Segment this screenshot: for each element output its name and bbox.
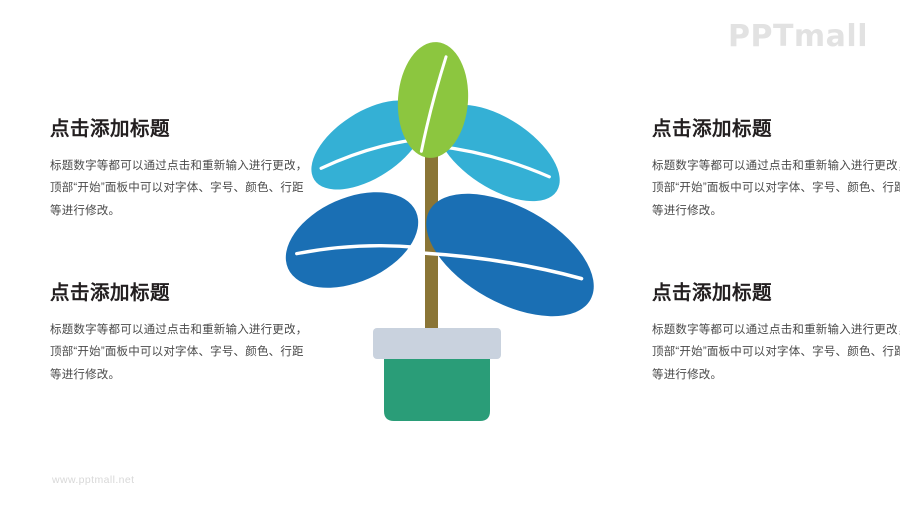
block-body-bottom-right[interactable]: 标题数字等都可以通过点击和重新输入进行更改，顶部“开始”面板中可以对字体、字号、… [652, 319, 900, 385]
text-block-bottom-right[interactable]: 点击添加标题 标题数字等都可以通过点击和重新输入进行更改，顶部“开始”面板中可以… [652, 282, 900, 386]
pptmall-logo: PPTmall [728, 22, 868, 52]
slide-canvas: PPTmall 点击添加标题 标题数字等都可以通过点击和重新输入进行更改，顶部“… [0, 0, 900, 506]
block-title-bottom-right[interactable]: 点击添加标题 [652, 282, 900, 305]
block-body-top-right[interactable]: 标题数字等都可以通过点击和重新输入进行更改，顶部“开始”面板中可以对字体、字号、… [652, 155, 900, 221]
leaf-lower-left-blue [271, 173, 433, 307]
block-title-top-right[interactable]: 点击添加标题 [652, 118, 900, 141]
potted-plant-illustration [270, 40, 630, 440]
footer-website-url: www.pptmall.net [52, 474, 134, 486]
pot-body-shape [384, 359, 490, 421]
pot-rim-shape [373, 328, 501, 359]
text-block-top-right[interactable]: 点击添加标题 标题数字等都可以通过点击和重新输入进行更改，顶部“开始”面板中可以… [652, 118, 900, 222]
